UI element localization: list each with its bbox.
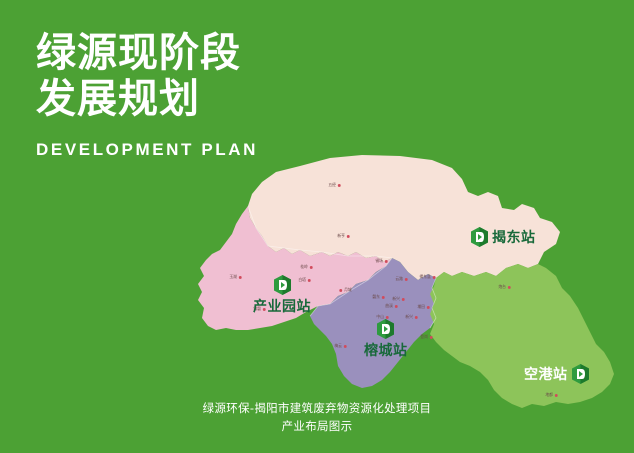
page-title-line2: 发展规划	[36, 76, 336, 122]
lvyuan-logo-icon	[377, 319, 394, 339]
town-dot-icon	[395, 305, 398, 308]
town-label: 锡场	[375, 258, 383, 264]
station-marker-konggang[interactable]: 空港站	[524, 364, 589, 384]
lvyuan-logo-icon	[274, 275, 291, 295]
town-marker: 云路	[395, 276, 407, 282]
town-marker: 登岗	[420, 334, 432, 340]
town-dot-icon	[385, 260, 388, 263]
town-marker: 玉湖	[229, 274, 241, 280]
town-label: 五经	[328, 182, 336, 188]
town-dot-icon	[382, 296, 385, 299]
caption-line1: 绿源环保-揭阳市建筑废弃物资源化处理项目	[0, 400, 634, 418]
town-dot-icon	[433, 276, 436, 279]
town-marker: 地都	[545, 392, 557, 398]
town-dot-icon	[339, 289, 342, 292]
town-label: 揭东县	[419, 274, 430, 280]
town-marker: 月城	[339, 287, 351, 293]
town-marker: 揭东县	[419, 274, 435, 280]
town-marker: 磐东	[372, 294, 384, 300]
town-label: 云路	[395, 276, 403, 282]
page-subtitle: DEVELOPMENT PLAN	[36, 140, 336, 160]
town-label: 地都	[545, 392, 553, 398]
station-marker-chanyeyuan[interactable]: 产业园站	[253, 275, 311, 316]
town-marker: 新兴	[392, 296, 404, 302]
town-marker: 埔田	[417, 304, 429, 310]
caption-line2: 产业布局图示	[0, 418, 634, 436]
station-label-rongcheng: 榕城站	[364, 340, 408, 360]
town-dot-icon	[338, 184, 341, 187]
map-region-east	[430, 264, 614, 408]
station-label-jiedong: 揭东站	[492, 227, 536, 247]
town-dot-icon	[239, 276, 242, 279]
town-label: 桂岭	[300, 264, 308, 270]
station-label-chanyeyuan: 产业园站	[253, 296, 311, 316]
poster-root: 绿源现阶段 发展规划 DEVELOPMENT PLAN 产业园站 揭东站	[0, 0, 634, 453]
town-dot-icon	[402, 298, 405, 301]
town-label: 埔田	[417, 304, 425, 310]
page-title-line1: 绿源现阶段	[36, 30, 336, 76]
town-marker: 曲溪	[385, 303, 397, 309]
town-label: 梅云	[334, 343, 342, 349]
town-label: 曲溪	[385, 303, 393, 309]
town-marker: 新亨	[337, 233, 349, 239]
station-label-konggang: 空港站	[524, 364, 568, 384]
title-block: 绿源现阶段 发展规划 DEVELOPMENT PLAN	[36, 30, 336, 160]
town-marker: 梅云	[334, 343, 346, 349]
station-marker-jiedong[interactable]: 揭东站	[471, 227, 536, 247]
lvyuan-logo-icon	[471, 227, 488, 247]
town-dot-icon	[405, 278, 408, 281]
station-marker-rongcheng[interactable]: 榕城站	[364, 319, 408, 360]
town-dot-icon	[555, 394, 558, 397]
town-dot-icon	[427, 306, 430, 309]
town-label: 玉湖	[229, 274, 237, 280]
town-label: 新亨	[337, 233, 345, 239]
town-dot-icon	[508, 286, 511, 289]
town-marker: 炮台	[498, 284, 510, 290]
town-marker: 五经	[328, 182, 340, 188]
caption-block: 绿源环保-揭阳市建筑废弃物资源化处理项目 产业布局图示	[0, 400, 634, 436]
town-dot-icon	[415, 316, 418, 319]
town-label: 月城	[344, 287, 352, 293]
town-dot-icon	[344, 345, 347, 348]
town-label: 炮台	[498, 284, 506, 290]
town-marker: 桂岭	[300, 264, 312, 270]
town-label: 新兴	[392, 296, 400, 302]
town-dot-icon	[347, 235, 350, 238]
town-marker: 锡场	[375, 258, 387, 264]
town-label: 磐东	[372, 294, 380, 300]
lvyuan-logo-icon	[572, 364, 589, 384]
town-label: 登岗	[420, 334, 428, 340]
town-dot-icon	[386, 316, 389, 319]
town-dot-icon	[310, 266, 313, 269]
town-dot-icon	[430, 336, 433, 339]
